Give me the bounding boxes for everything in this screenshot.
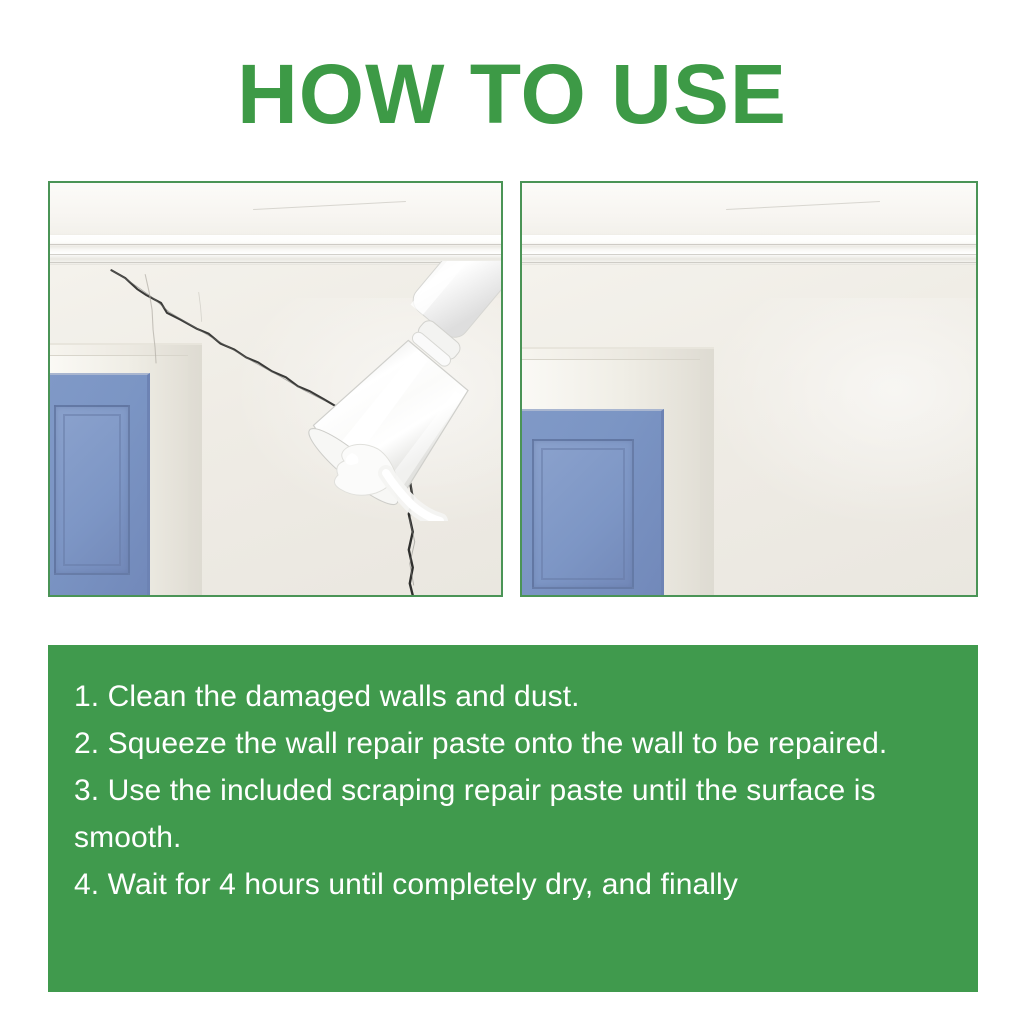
ceiling xyxy=(522,183,976,238)
crown-molding xyxy=(522,235,976,265)
door-panel xyxy=(54,405,130,575)
wall-highlight xyxy=(704,298,976,529)
before-photo xyxy=(48,181,503,597)
instruction-list: 1. Clean the damaged walls and dust. 2. … xyxy=(74,673,952,908)
ceiling xyxy=(50,183,501,238)
how-to-use-infographic: HOW TO USE xyxy=(0,0,1024,1024)
instruction-step: 3. Use the included scraping repair past… xyxy=(74,767,952,861)
crown-molding xyxy=(50,235,501,265)
after-photo xyxy=(520,181,978,597)
door-panel xyxy=(532,439,634,589)
ceiling-seam xyxy=(726,201,880,210)
blue-door xyxy=(50,373,150,595)
before-scene xyxy=(50,183,501,595)
instruction-step: 1. Clean the damaged walls and dust. xyxy=(74,673,952,720)
after-scene xyxy=(522,183,976,595)
photo-panel-group xyxy=(48,181,978,597)
instruction-step: 4. Wait for 4 hours until completely dry… xyxy=(74,861,952,908)
instruction-step: 2. Squeeze the wall repair paste onto th… xyxy=(74,720,952,767)
instructions-panel: 1. Clean the damaged walls and dust. 2. … xyxy=(48,645,978,992)
wall-highlight xyxy=(230,298,501,529)
page-title: HOW TO USE xyxy=(0,52,1024,136)
blue-door xyxy=(522,409,664,595)
ceiling-seam xyxy=(253,201,406,210)
